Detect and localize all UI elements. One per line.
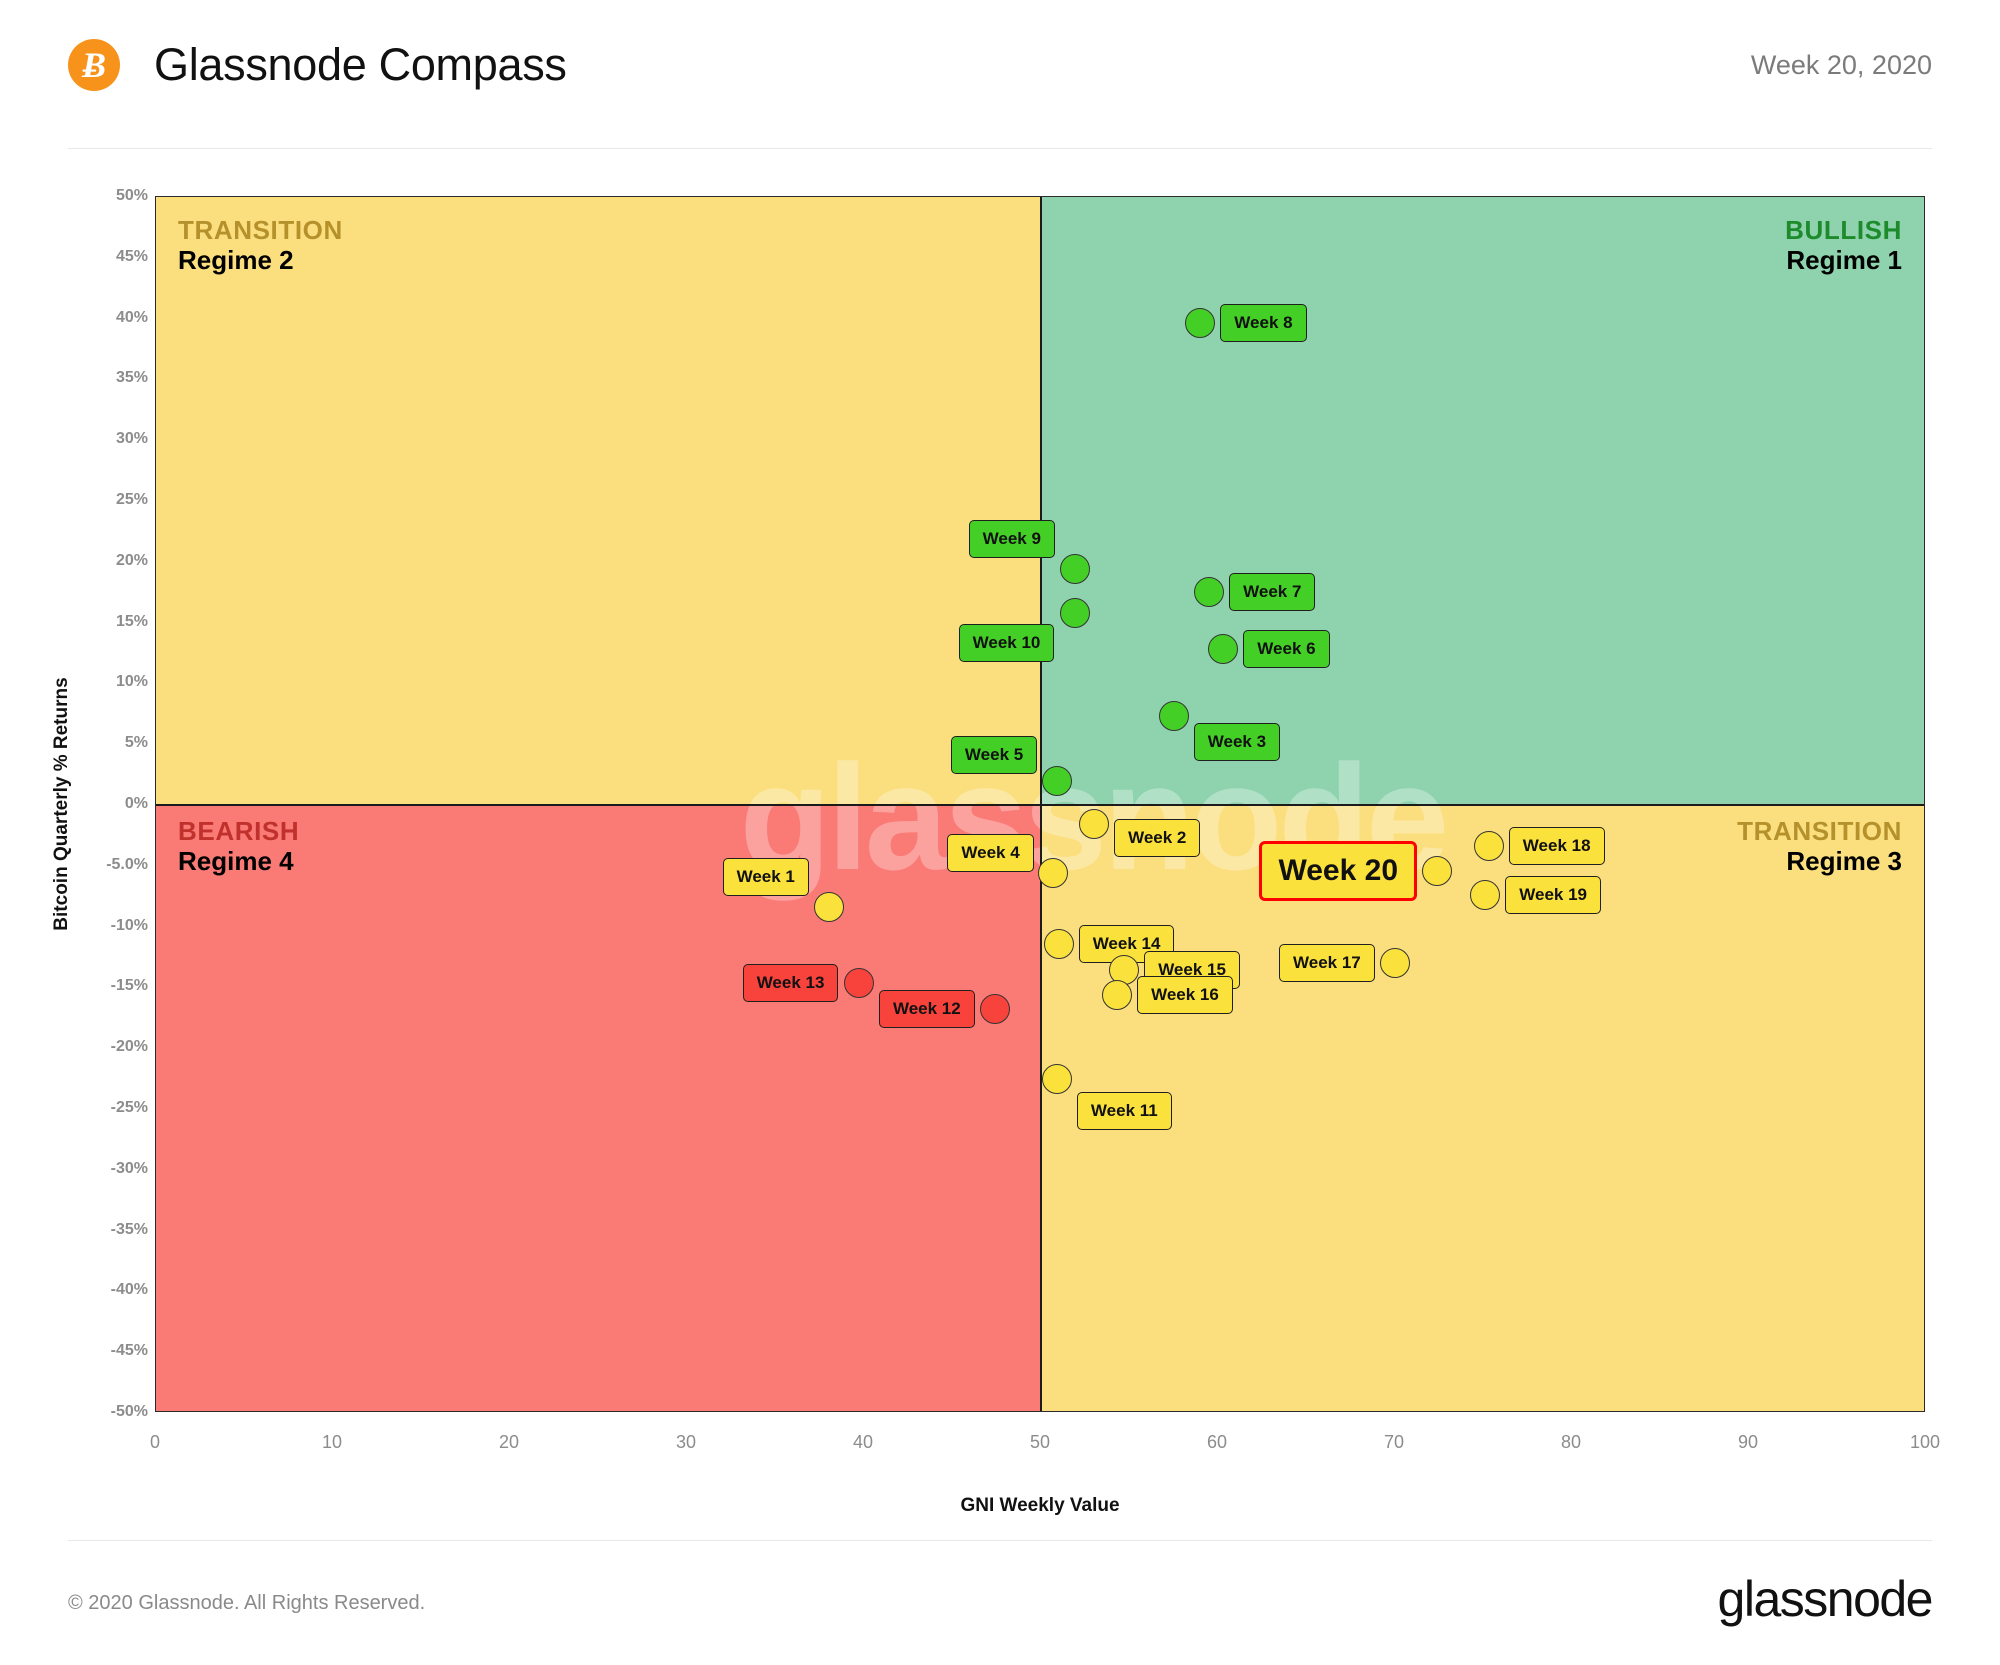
y-tick-label: -5.0% xyxy=(106,856,148,874)
y-tick-label: 20% xyxy=(116,552,148,570)
y-tick-label: 5% xyxy=(125,734,148,752)
x-tick-label: 40 xyxy=(853,1432,873,1453)
x-tick-label: 80 xyxy=(1561,1432,1581,1453)
y-tick-label: -40% xyxy=(111,1281,148,1299)
data-point-week-3[interactable] xyxy=(1159,701,1189,731)
quadrant-label-regime4: BEARISH Regime 4 xyxy=(178,816,299,876)
data-point-week-18[interactable] xyxy=(1474,831,1504,861)
x-tick-label: 70 xyxy=(1384,1432,1404,1453)
page-header: Ƀ Glassnode Compass xyxy=(0,0,2000,130)
y-tick-label: 10% xyxy=(116,673,148,691)
y-tick-label: 30% xyxy=(116,430,148,448)
data-point-week-8[interactable] xyxy=(1185,308,1215,338)
brand: Ƀ Glassnode Compass xyxy=(68,39,567,91)
y-tick-label: -20% xyxy=(111,1038,148,1056)
data-point-week-12[interactable] xyxy=(980,994,1010,1024)
quadrant-regime-regime3: Regime 3 xyxy=(1737,846,1902,876)
data-point-week-7[interactable] xyxy=(1194,577,1224,607)
week-label: Week 20, 2020 xyxy=(1751,50,1932,81)
y-tick-label: 25% xyxy=(116,491,148,509)
data-point-week-20[interactable] xyxy=(1422,856,1452,886)
data-point-week-14[interactable] xyxy=(1044,929,1074,959)
plot-area: glassnode TRANSITION Regime 2 BULLISH Re… xyxy=(155,196,1925,1412)
y-tick-label: 0% xyxy=(125,795,148,813)
data-point-week-1[interactable] xyxy=(814,892,844,922)
quadrant-kind-regime4: BEARISH xyxy=(178,816,299,846)
header-divider xyxy=(68,148,1932,149)
point-label-week-9[interactable]: Week 9 xyxy=(969,520,1055,558)
x-tick-label: 60 xyxy=(1207,1432,1227,1453)
glassnode-logo: glassnode xyxy=(1718,1570,1932,1628)
quadrant-label-regime2: TRANSITION Regime 2 xyxy=(178,215,343,275)
point-label-week-11[interactable]: Week 11 xyxy=(1077,1092,1172,1130)
point-label-week-5[interactable]: Week 5 xyxy=(951,736,1037,774)
bitcoin-icon: Ƀ xyxy=(68,39,120,91)
x-axis-label: GNI Weekly Value xyxy=(960,1495,1119,1517)
page-title: Glassnode Compass xyxy=(154,39,567,91)
x-tick-label: 30 xyxy=(676,1432,696,1453)
horizontal-divider xyxy=(156,804,1924,806)
x-tick-label: 100 xyxy=(1910,1432,1940,1453)
quadrant-label-regime3: TRANSITION Regime 3 xyxy=(1737,816,1902,876)
data-point-week-10[interactable] xyxy=(1060,598,1090,628)
point-label-week-17[interactable]: Week 17 xyxy=(1279,944,1375,982)
copyright-text: © 2020 Glassnode. All Rights Reserved. xyxy=(68,1592,425,1615)
y-tick-label: 15% xyxy=(116,613,148,631)
quadrant-label-regime1: BULLISH Regime 1 xyxy=(1785,215,1902,275)
data-point-week-16[interactable] xyxy=(1102,980,1132,1010)
data-point-week-19[interactable] xyxy=(1470,880,1500,910)
data-point-week-9[interactable] xyxy=(1060,554,1090,584)
y-tick-label: -30% xyxy=(111,1160,148,1178)
point-label-week-10[interactable]: Week 10 xyxy=(959,624,1055,662)
x-tick-label: 10 xyxy=(322,1432,342,1453)
quadrant-regime-regime1: Regime 1 xyxy=(1785,245,1902,275)
x-tick-label: 0 xyxy=(150,1432,160,1453)
point-label-week-13[interactable]: Week 13 xyxy=(743,964,839,1002)
y-tick-label: -25% xyxy=(111,1099,148,1117)
point-label-week-18[interactable]: Week 18 xyxy=(1509,827,1605,865)
quadrant-kind-regime2: TRANSITION xyxy=(178,215,343,245)
data-point-week-11[interactable] xyxy=(1042,1064,1072,1094)
x-tick-label: 20 xyxy=(499,1432,519,1453)
point-label-week-1[interactable]: Week 1 xyxy=(723,858,809,896)
data-point-week-5[interactable] xyxy=(1042,766,1072,796)
quadrant-kind-regime3: TRANSITION xyxy=(1737,816,1902,846)
quadrant-regime-regime4: Regime 4 xyxy=(178,846,299,876)
y-axis-ticks: 50%45%40%35%30%25%20%15%10%5%0%-5.0%-10%… xyxy=(60,196,148,1412)
quadrant-regime2 xyxy=(156,197,1040,804)
y-axis-label: Bitcoin Quarterly % Returns xyxy=(51,677,73,930)
point-label-week-4[interactable]: Week 4 xyxy=(947,834,1033,872)
y-tick-label: -10% xyxy=(111,917,148,935)
point-label-week-7[interactable]: Week 7 xyxy=(1229,573,1315,611)
y-tick-label: 35% xyxy=(116,369,148,387)
point-label-week-16[interactable]: Week 16 xyxy=(1137,976,1233,1014)
x-tick-label: 50 xyxy=(1030,1432,1050,1453)
data-point-week-4[interactable] xyxy=(1038,858,1068,888)
data-point-week-2[interactable] xyxy=(1079,809,1109,839)
y-tick-label: -35% xyxy=(111,1221,148,1239)
data-point-week-13[interactable] xyxy=(844,968,874,998)
point-label-week-19[interactable]: Week 19 xyxy=(1505,876,1601,914)
data-point-week-17[interactable] xyxy=(1380,948,1410,978)
y-tick-label: 40% xyxy=(116,309,148,327)
y-tick-label: 50% xyxy=(116,187,148,205)
quadrant-regime-regime2: Regime 2 xyxy=(178,245,343,275)
point-label-week-20[interactable]: Week 20 xyxy=(1259,841,1417,901)
compass-chart: 50%45%40%35%30%25%20%15%10%5%0%-5.0%-10%… xyxy=(0,150,2000,1530)
data-point-week-6[interactable] xyxy=(1208,634,1238,664)
footer-divider xyxy=(68,1540,1932,1541)
point-label-week-6[interactable]: Week 6 xyxy=(1243,630,1329,668)
point-label-week-3[interactable]: Week 3 xyxy=(1194,723,1280,761)
point-label-week-2[interactable]: Week 2 xyxy=(1114,819,1200,857)
y-tick-label: -15% xyxy=(111,977,148,995)
y-tick-label: -45% xyxy=(111,1342,148,1360)
quadrant-regime4 xyxy=(156,804,1040,1411)
y-tick-label: 45% xyxy=(116,248,148,266)
y-tick-label: -50% xyxy=(111,1403,148,1421)
x-tick-label: 90 xyxy=(1738,1432,1758,1453)
quadrant-kind-regime1: BULLISH xyxy=(1785,215,1902,245)
point-label-week-8[interactable]: Week 8 xyxy=(1220,304,1306,342)
point-label-week-12[interactable]: Week 12 xyxy=(879,990,975,1028)
x-axis-ticks: 0102030405060708090100 xyxy=(155,1432,1925,1462)
